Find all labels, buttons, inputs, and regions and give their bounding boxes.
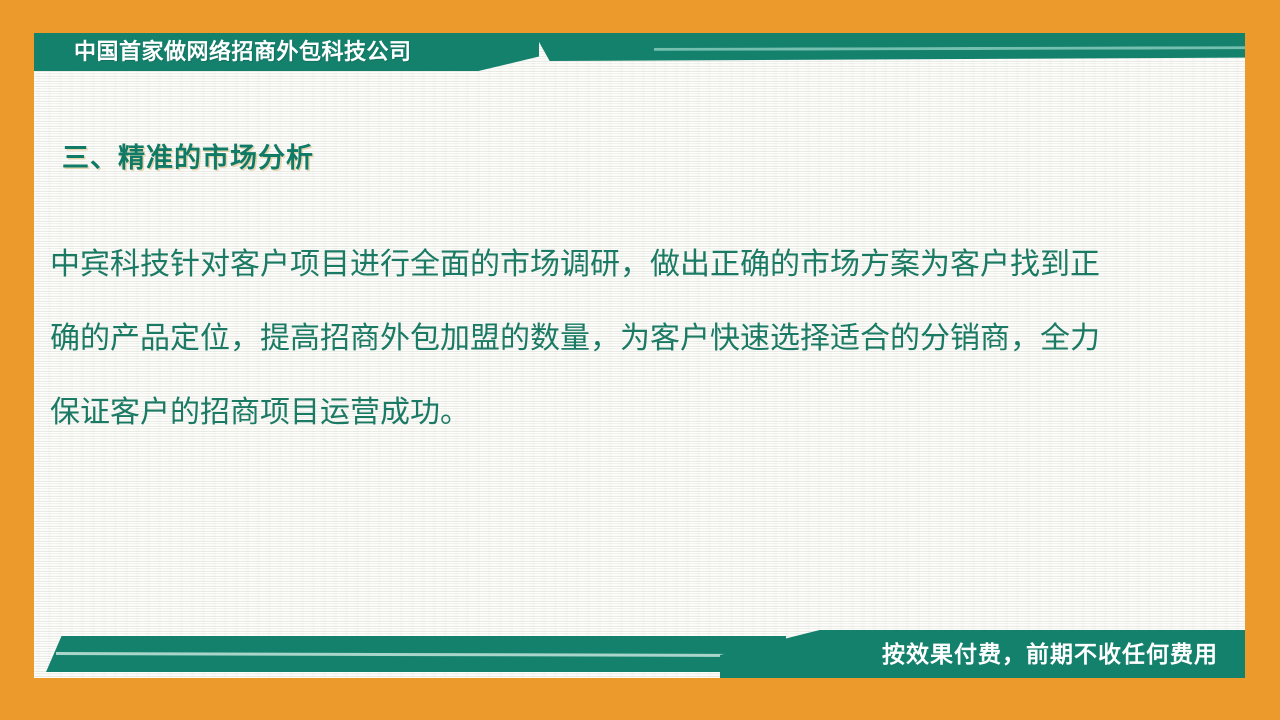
body-line-2: 确的产品定位，提高招商外包加盟的数量，为客户快速选择适合的分销商，全力	[50, 302, 1195, 376]
body-line-3: 保证客户的招商项目运营成功。	[50, 376, 1195, 450]
frame-border-right	[1245, 0, 1280, 720]
header-title: 中国首家做网络招商外包科技公司	[74, 37, 412, 67]
footer-ribbon: 按效果付费，前期不收任何费用	[34, 630, 1245, 678]
footer-slogan: 按效果付费，前期不收任何费用	[882, 639, 1218, 669]
slide-root: 中国首家做网络招商外包科技公司 三、精准的市场分析 中宾科技针对客户项目进行全面…	[0, 0, 1280, 720]
frame-border-left	[0, 0, 34, 720]
footer-slogan-bar: 按效果付费，前期不收任何费用	[720, 630, 1245, 678]
body-line-1: 中宾科技针对客户项目进行全面的市场调研，做出正确的市场方案为客户找到正	[50, 228, 1195, 302]
body-paragraph: 中宾科技针对客户项目进行全面的市场调研，做出正确的市场方案为客户找到正 确的产品…	[50, 228, 1195, 450]
header-ribbon: 中国首家做网络招商外包科技公司	[34, 33, 1245, 77]
section-title: 三、精准的市场分析	[62, 136, 314, 175]
frame-border-bottom	[0, 678, 1280, 720]
frame-border-top	[0, 0, 1280, 33]
